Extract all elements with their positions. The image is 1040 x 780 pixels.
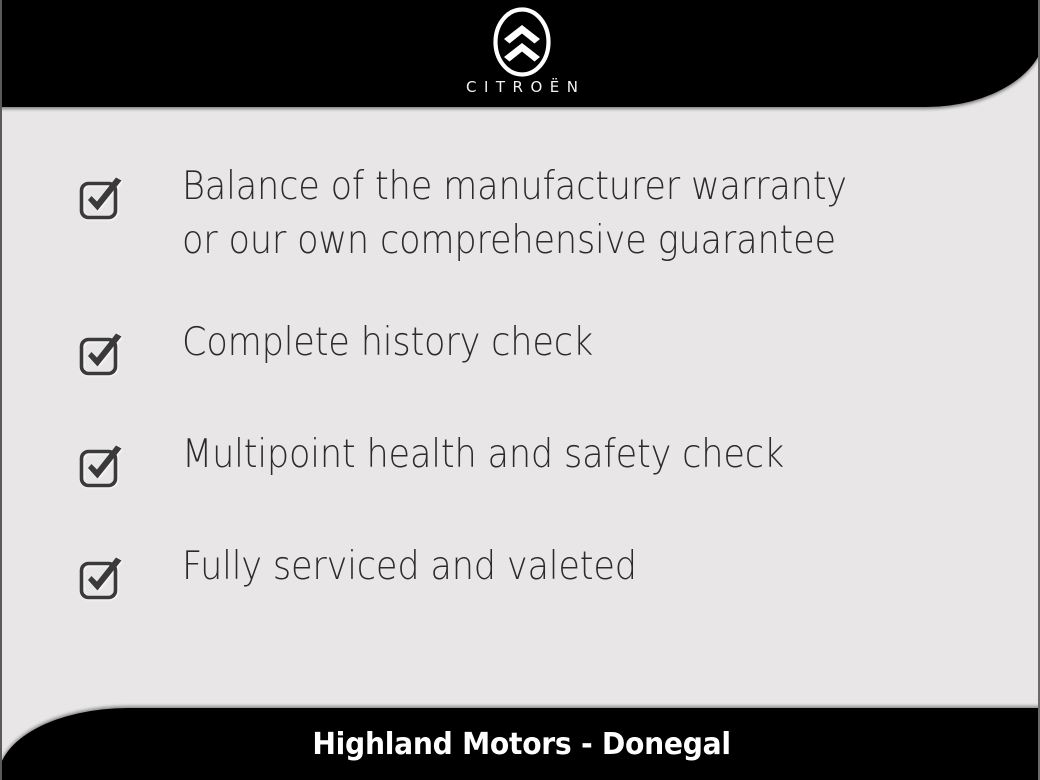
benefit-text: Fully serviced and valeted	[182, 540, 952, 594]
citroen-used-car-benefits-slide: CITROËN Balance of the manufacturer warr…	[0, 0, 1040, 780]
benefit-item: Complete history check	[2, 316, 1038, 380]
checkbox-cell	[2, 316, 182, 380]
checkbox-cell	[2, 428, 182, 492]
brand-header-bar: CITROËN	[0, 0, 1040, 107]
benefit-text: Balance of the manufacturer warranty or …	[182, 160, 952, 268]
checkbox-cell	[2, 540, 182, 604]
benefit-text: Complete history check	[182, 316, 952, 370]
checked-checkbox-icon	[77, 330, 127, 380]
benefit-text: Multipoint health and safety check	[182, 428, 952, 482]
checkbox-cell	[2, 160, 182, 224]
brand-lockup: CITROËN	[0, 6, 1040, 95]
checked-checkbox-icon	[77, 554, 127, 604]
benefit-item: Balance of the manufacturer warranty or …	[2, 160, 1038, 268]
checked-checkbox-icon	[77, 174, 127, 224]
checked-checkbox-icon	[77, 442, 127, 492]
dealer-footer-bar: Highland Motors - Donegal	[0, 708, 1040, 780]
benefits-list: Balance of the manufacturer warranty or …	[2, 160, 1038, 604]
benefit-item: Fully serviced and valeted	[2, 540, 1038, 604]
citroen-chevrons-oval-logo-icon	[491, 6, 553, 78]
benefit-item: Multipoint health and safety check	[2, 428, 1038, 492]
dealer-name: Highland Motors - Donegal	[313, 727, 731, 762]
citroen-wordmark: CITROËN	[459, 80, 586, 95]
